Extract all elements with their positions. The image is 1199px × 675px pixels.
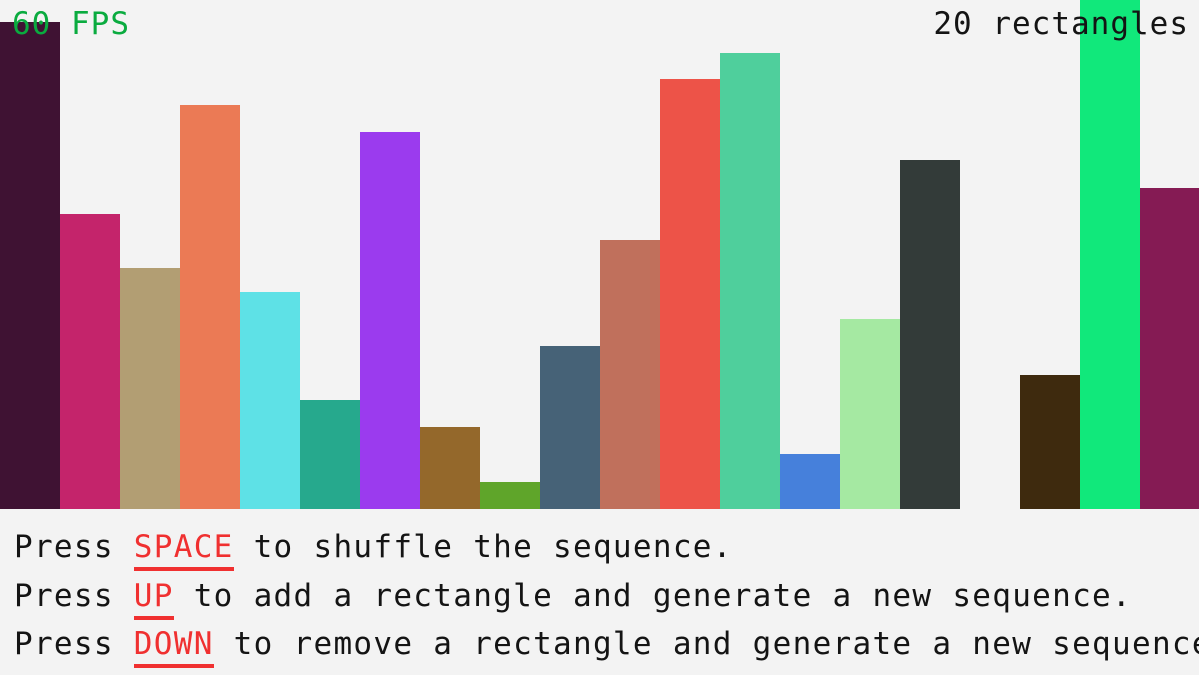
instruction-line-shuffle: Press SPACE to shuffle the sequence. xyxy=(14,530,733,564)
bar-rectangle xyxy=(480,482,540,509)
bar-rectangle xyxy=(780,454,840,509)
rectangle-shuffle-app: 60 FPS 20 rectangles Press SPACE to shuf… xyxy=(0,0,1199,675)
instruction-prefix-shuffle: Press xyxy=(14,529,134,565)
bar-rectangle xyxy=(1080,0,1140,509)
instruction-line-remove: Press DOWN to remove a rectangle and gen… xyxy=(14,627,1199,661)
key-up[interactable]: UP xyxy=(134,578,174,620)
bar-rectangle xyxy=(60,214,120,509)
instruction-suffix-shuffle: to shuffle the sequence. xyxy=(234,529,733,565)
bar-rectangle xyxy=(180,105,240,509)
bar-rectangle xyxy=(300,400,360,509)
bar-rectangle xyxy=(1020,375,1080,509)
bar-rectangle xyxy=(660,79,720,509)
instructions-panel: Press SPACE to shuffle the sequence. Pre… xyxy=(0,509,1199,675)
bar-rectangle xyxy=(840,319,900,509)
bar-rectangle xyxy=(900,160,960,509)
key-space[interactable]: SPACE xyxy=(134,529,234,571)
instruction-suffix-add: to add a rectangle and generate a new se… xyxy=(174,578,1132,614)
rectangle-count-label: 20 rectangles xyxy=(933,7,1189,41)
bar-rectangle xyxy=(540,346,600,509)
bar-rectangle xyxy=(720,53,780,509)
instruction-suffix-remove: to remove a rectangle and generate a new… xyxy=(214,626,1199,662)
fps-counter: 60 FPS xyxy=(12,7,130,41)
instruction-line-add: Press UP to add a rectangle and generate… xyxy=(14,579,1132,613)
bar-rectangle xyxy=(1140,188,1199,509)
bar-chart-canvas[interactable] xyxy=(0,0,1199,509)
bar-rectangle xyxy=(420,427,480,509)
bar-rectangle xyxy=(360,132,420,509)
key-down[interactable]: DOWN xyxy=(134,626,214,668)
instruction-prefix-remove: Press xyxy=(14,626,134,662)
bar-rectangle xyxy=(0,22,60,509)
bar-rectangle xyxy=(120,268,180,509)
instruction-prefix-add: Press xyxy=(14,578,134,614)
bar-rectangle xyxy=(240,292,300,509)
bar-rectangle xyxy=(600,240,660,509)
